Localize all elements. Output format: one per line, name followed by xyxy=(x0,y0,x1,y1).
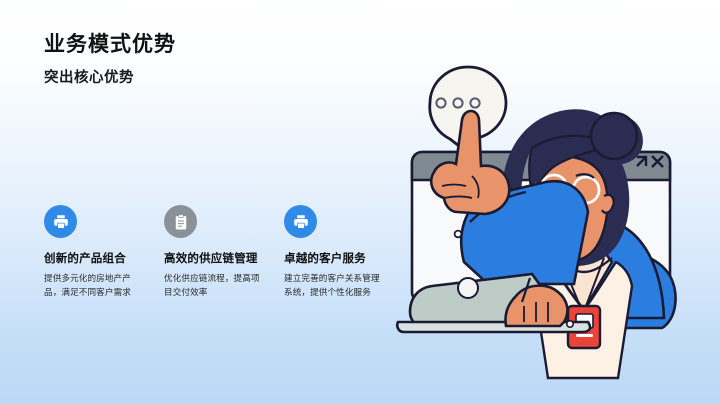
feature-item-2[interactable]: 高效的供应链管理 优化供应链流程，提高项目交付效率 xyxy=(164,205,284,299)
feature-description: 建立完善的客户关系管理系统，提供个性化服务 xyxy=(284,272,386,299)
feature-item-3[interactable]: 卓越的客户服务 建立完善的客户关系管理系统，提供个性化服务 xyxy=(284,205,404,299)
slide-canvas: 业务模式优势 突出核心优势 创新的产品组合 提供多元化的房地产产品，满足不同客户… xyxy=(0,0,720,404)
printer-icon xyxy=(284,205,317,238)
illustration-woman-pointing xyxy=(390,0,720,404)
page-title: 业务模式优势 xyxy=(44,28,176,58)
page-subtitle: 突出核心优势 xyxy=(44,66,134,87)
feature-description: 提供多元化的房地产产品，满足不同客户需求 xyxy=(44,272,146,299)
feature-description: 优化供应链流程，提高项目交付效率 xyxy=(164,272,266,299)
feature-list: 创新的产品组合 提供多元化的房地产产品，满足不同客户需求 高效的供应链管理 优化… xyxy=(44,205,404,299)
printer-icon xyxy=(44,205,77,238)
feature-title: 卓越的客户服务 xyxy=(284,252,386,266)
feature-title: 创新的产品组合 xyxy=(44,252,146,266)
feature-item-1[interactable]: 创新的产品组合 提供多元化的房地产产品，满足不同客户需求 xyxy=(44,205,164,299)
feature-title: 高效的供应链管理 xyxy=(164,252,266,266)
clipboard-icon xyxy=(164,205,197,238)
